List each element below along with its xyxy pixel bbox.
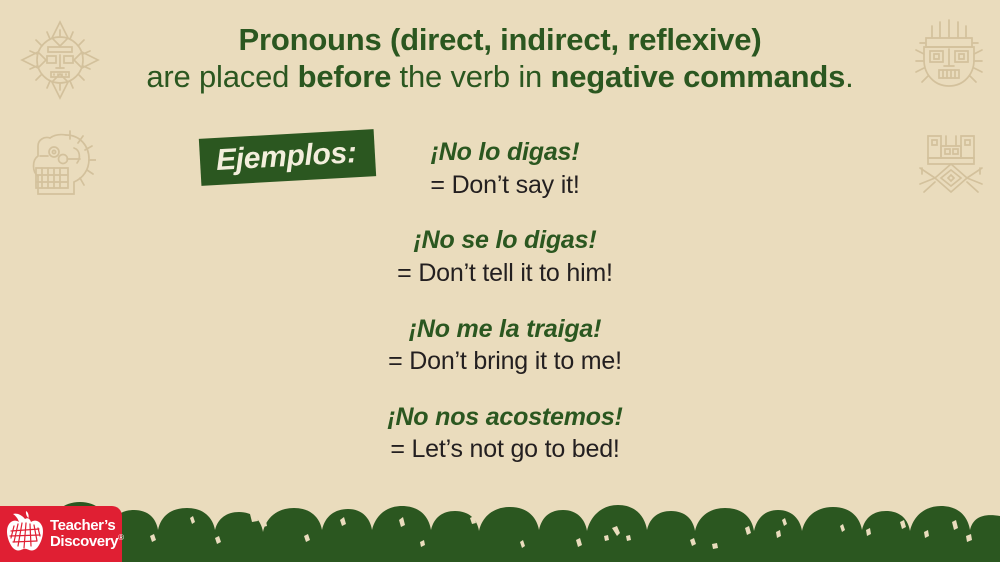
title-line-1: Pronouns (direct, indirect, reflexive) xyxy=(0,22,1000,59)
title-emphasis-before: before xyxy=(298,59,392,94)
example-spanish: ¡No lo digas! xyxy=(300,136,710,169)
example-spanish: ¡No me la traiga! xyxy=(300,313,710,346)
title-line-2: are placed before the verb in negative c… xyxy=(0,59,1000,96)
title-line-2-mid: the verb in xyxy=(391,59,550,94)
aztec-bird-diamond-glyph xyxy=(914,124,988,204)
registered-mark: ® xyxy=(118,533,124,542)
logo-line-2-text: Discovery xyxy=(50,533,118,550)
logo-line-1: Teacher’s xyxy=(50,518,124,534)
example-item: ¡No se lo digas! = Don’t tell it to him! xyxy=(300,224,710,290)
example-english: = Don’t say it! xyxy=(300,169,710,203)
title-line-2-post: . xyxy=(845,59,853,94)
example-english: = Don’t tell it to him! xyxy=(300,257,710,291)
examples-list: ¡No lo digas! = Don’t say it! ¡No se lo … xyxy=(300,136,710,489)
example-english: = Don’t bring it to me! xyxy=(300,345,710,379)
bottom-decorative-border xyxy=(0,492,1000,562)
title-line-2-pre: are placed xyxy=(146,59,297,94)
example-item: ¡No nos acostemos! = Let’s not go to bed… xyxy=(300,401,710,467)
slide-canvas: Pronouns (direct, indirect, reflexive) a… xyxy=(0,0,1000,562)
example-english: = Let’s not go to bed! xyxy=(300,433,710,467)
teachers-discovery-logo[interactable]: Teacher’s Discovery® xyxy=(0,506,122,562)
mayan-profile-head-glyph xyxy=(22,126,96,202)
example-spanish: ¡No nos acostemos! xyxy=(300,401,710,434)
example-spanish: ¡No se lo digas! xyxy=(300,224,710,257)
example-item: ¡No lo digas! = Don’t say it! xyxy=(300,136,710,202)
apple-icon xyxy=(5,510,45,559)
logo-wordmark: Teacher’s Discovery® xyxy=(50,518,124,550)
logo-line-2: Discovery® xyxy=(50,534,124,550)
slide-title: Pronouns (direct, indirect, reflexive) a… xyxy=(0,22,1000,95)
title-emphasis-negative-commands: negative commands xyxy=(551,59,846,94)
example-item: ¡No me la traiga! = Don’t bring it to me… xyxy=(300,313,710,379)
